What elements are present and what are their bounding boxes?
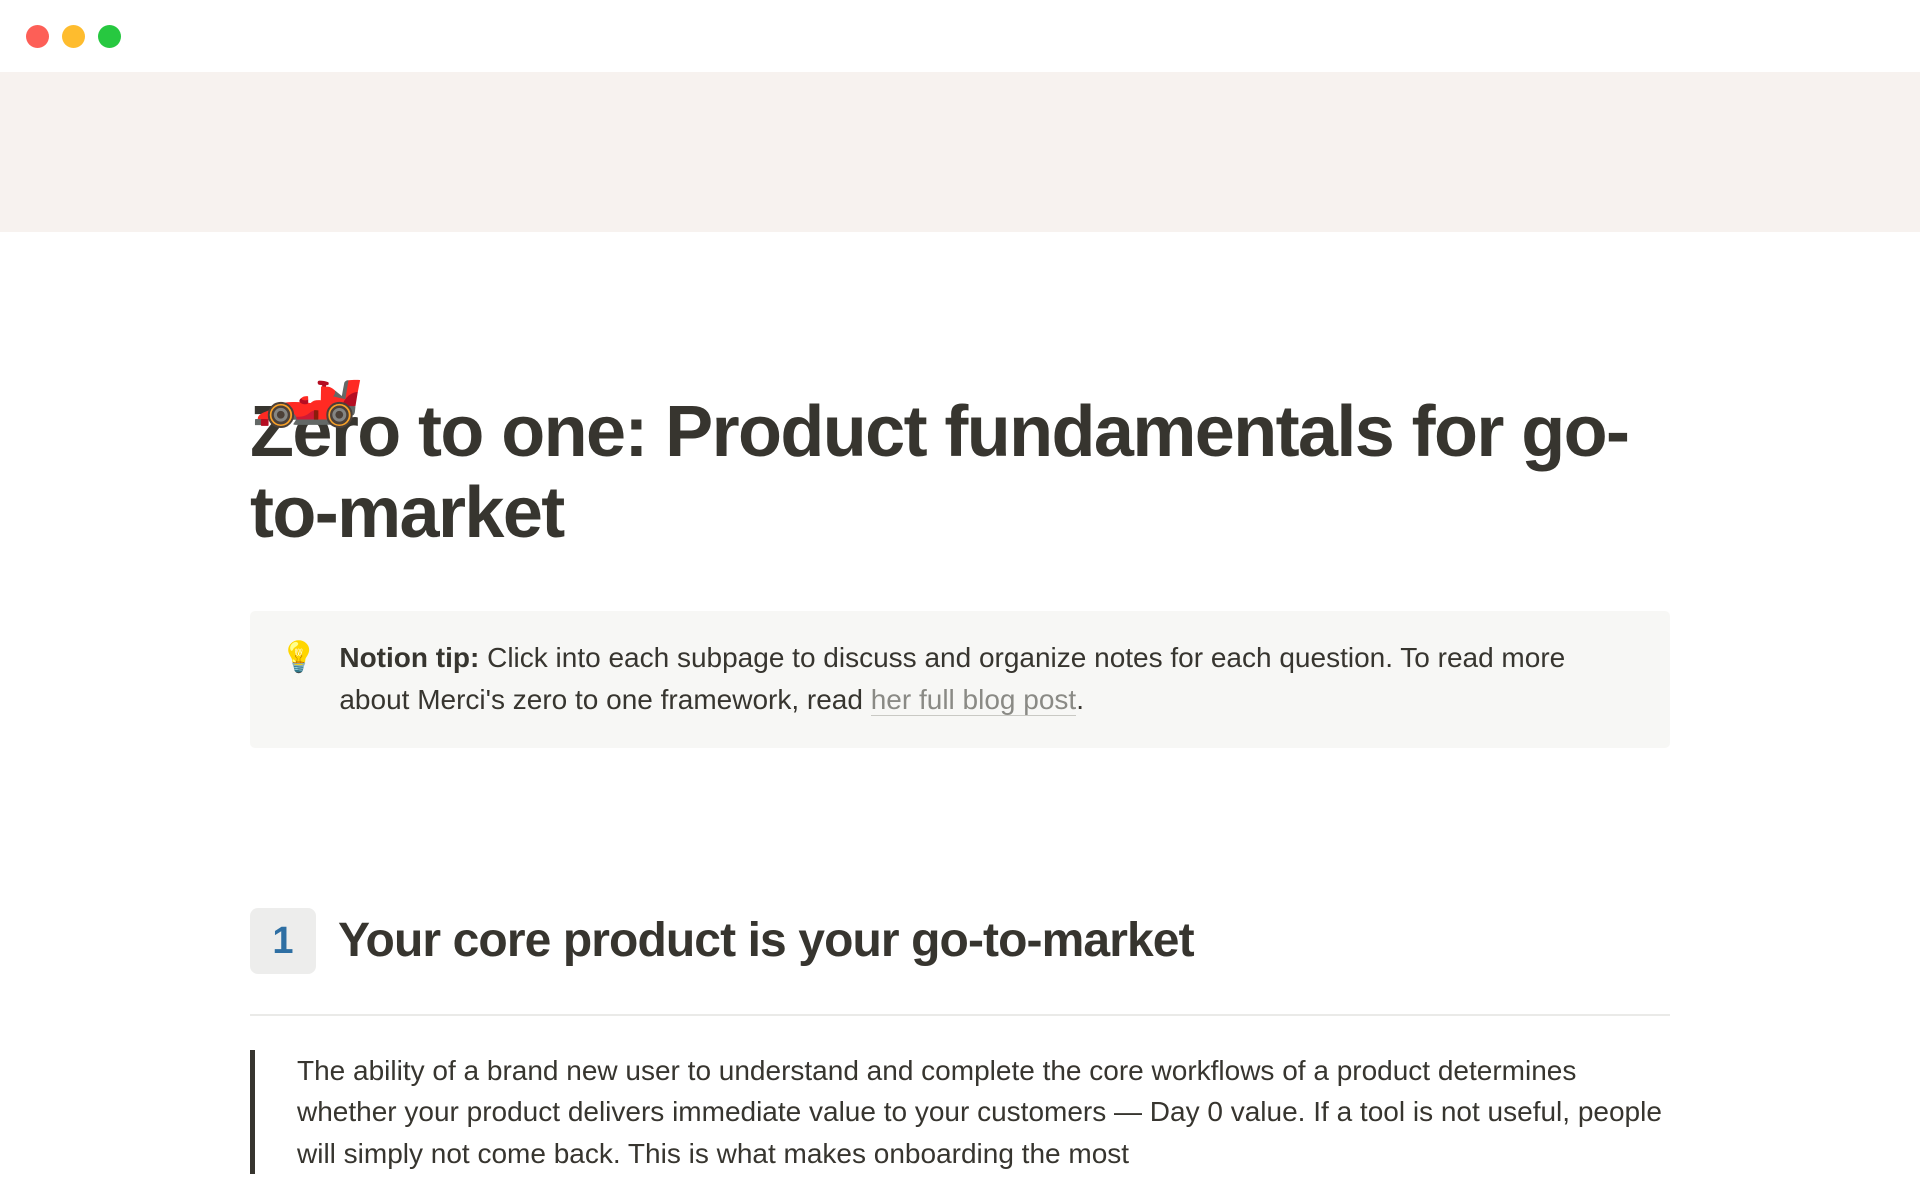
callout-tail-text: . bbox=[1076, 684, 1084, 715]
callout-block[interactable]: 💡 Notion tip: Click into each subpage to… bbox=[250, 611, 1670, 748]
window-titlebar bbox=[0, 0, 1920, 72]
minimize-window-button[interactable] bbox=[62, 25, 85, 48]
section-title[interactable]: Your core product is your go-to-market bbox=[338, 915, 1194, 968]
content-column: 🏎️ Zero to one: Product fundamentals for… bbox=[250, 392, 1670, 1174]
close-window-button[interactable] bbox=[26, 25, 49, 48]
page-body: 🏎️ Zero to one: Product fundamentals for… bbox=[0, 232, 1920, 1200]
app-window: 🏎️ Zero to one: Product fundamentals for… bbox=[0, 0, 1920, 1200]
maximize-window-button[interactable] bbox=[98, 25, 121, 48]
page-title[interactable]: Zero to one: Product fundamentals for go… bbox=[250, 392, 1670, 553]
section-number-badge: 1 bbox=[250, 908, 316, 974]
traffic-light-controls bbox=[26, 25, 121, 48]
callout-text: Notion tip: Click into each subpage to d… bbox=[339, 637, 1640, 720]
page-cover[interactable] bbox=[0, 72, 1920, 232]
quote-text: The ability of a brand new user to under… bbox=[297, 1050, 1670, 1174]
blog-post-link[interactable]: her full blog post bbox=[871, 684, 1076, 716]
section-heading-1[interactable]: 1 Your core product is your go-to-market bbox=[250, 908, 1670, 974]
racing-car-emoji[interactable]: 🏎️ bbox=[250, 332, 365, 432]
light-bulb-emoji: 💡 bbox=[280, 637, 317, 680]
callout-lead-label: Notion tip: bbox=[339, 642, 479, 673]
section-divider bbox=[250, 1014, 1670, 1016]
quote-block[interactable]: The ability of a brand new user to under… bbox=[250, 1050, 1670, 1174]
